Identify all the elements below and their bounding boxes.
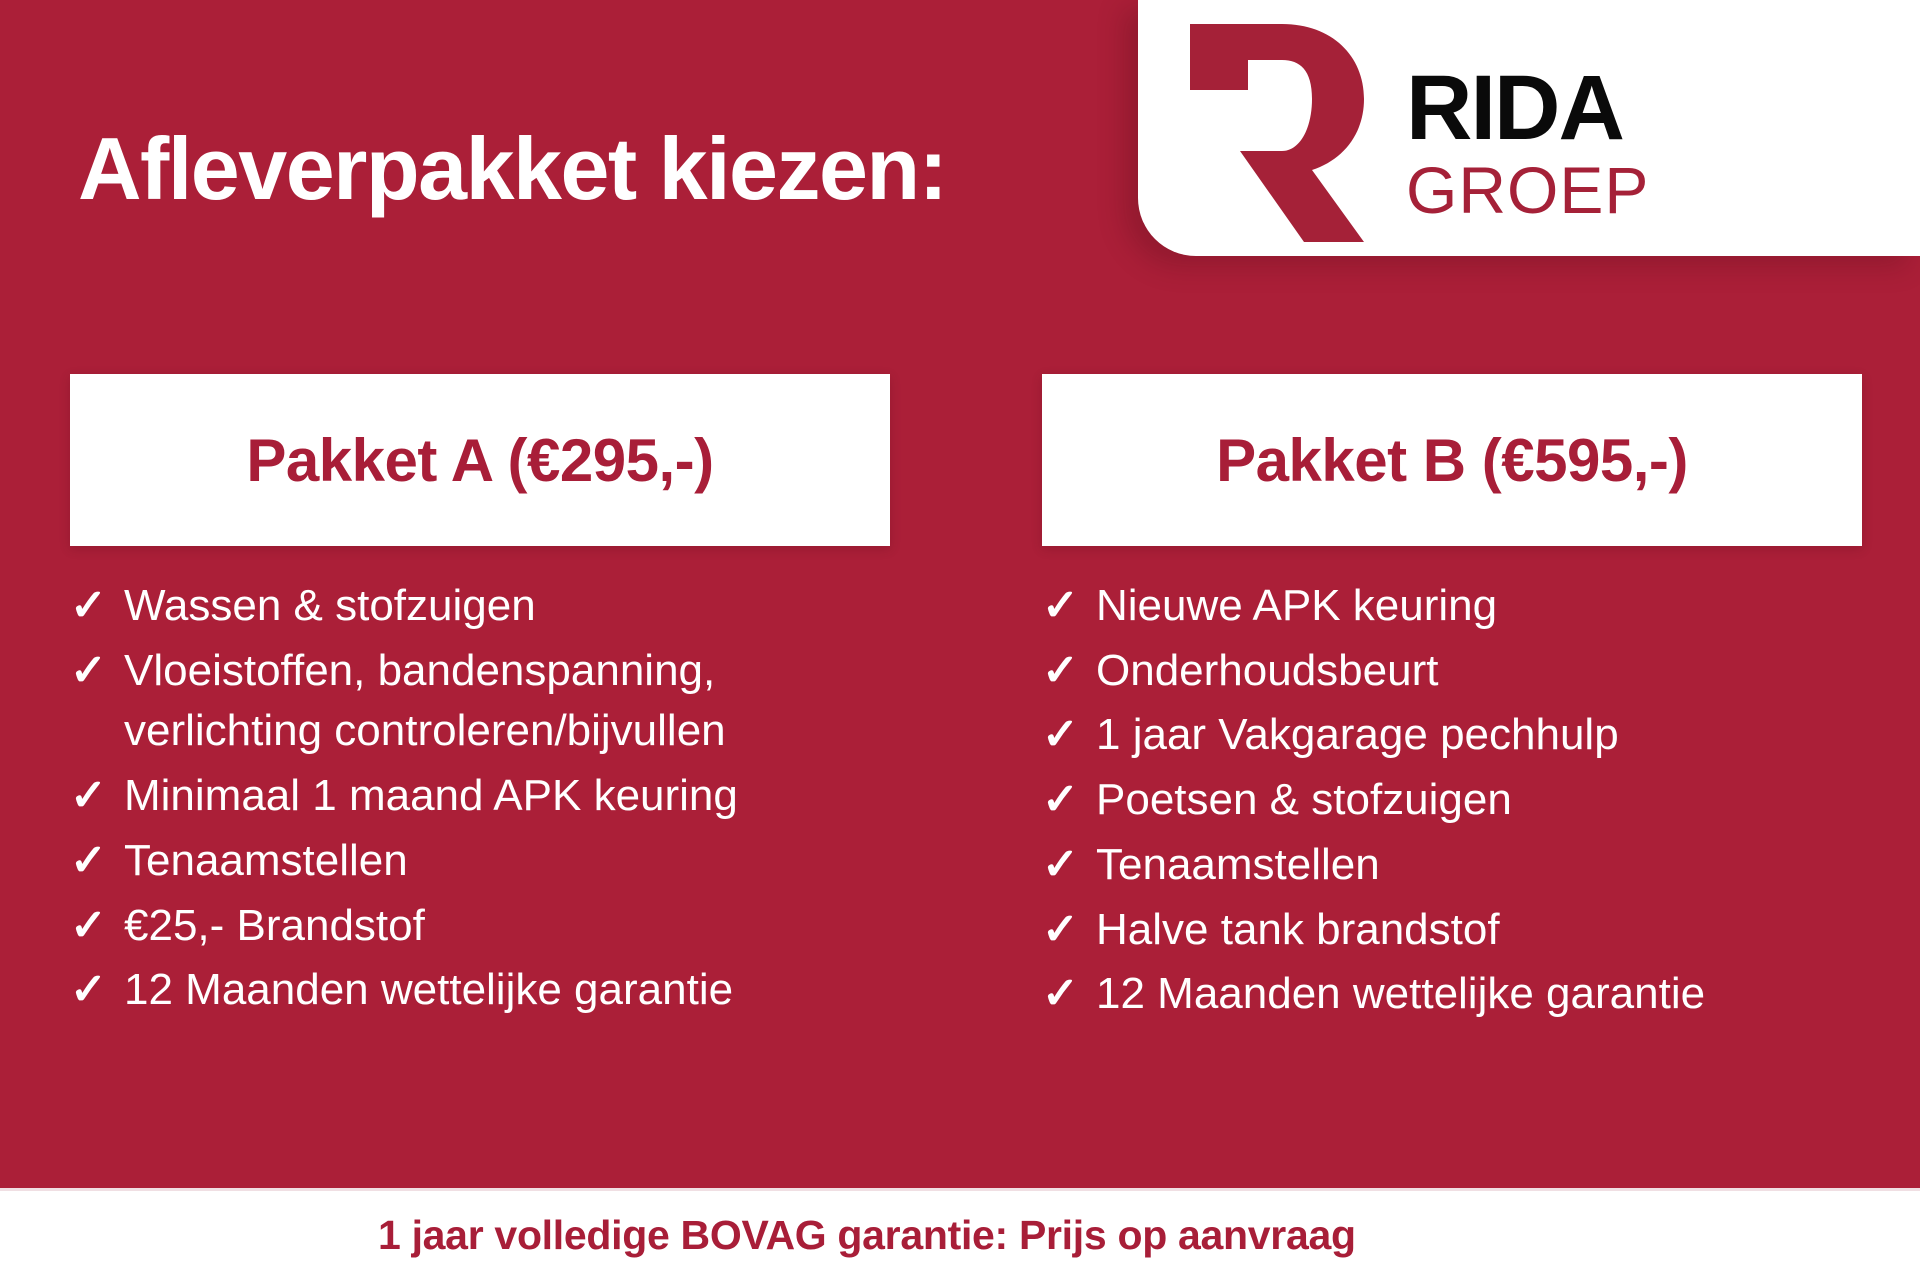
list-item: ✓ Poetsen & stofzuigen (1042, 770, 1862, 831)
list-item: ✓ 12 Maanden wettelijke garantie (70, 960, 890, 1021)
list-item: ✓ €25,- Brandstof (70, 896, 890, 957)
list-item: ✓ Onderhoudsbeurt (1042, 641, 1862, 702)
feature-label: Poetsen & stofzuigen (1096, 770, 1862, 831)
package-b-feature-list: ✓ Nieuwe APK keuring ✓ Onderhoudsbeurt ✓… (1042, 576, 1862, 1025)
package-a-header: Pakket A (€295,-) (70, 374, 890, 546)
check-mark-icon: ✓ (70, 641, 124, 702)
logo-name: RIDA (1406, 66, 1649, 151)
rida-r-monogram-icon (1186, 20, 1364, 242)
feature-label: Vloeistoffen, bandenspanning, verlichtin… (124, 641, 890, 762)
package-a-title: Pakket A (€295,-) (246, 426, 713, 495)
feature-label: 12 Maanden wettelijke garantie (124, 960, 890, 1021)
list-item: ✓ Tenaamstellen (1042, 835, 1862, 896)
feature-label: Halve tank brandstof (1096, 900, 1862, 961)
package-b-header: Pakket B (€595,-) (1042, 374, 1862, 546)
check-mark-icon: ✓ (70, 831, 124, 892)
footer-note: 1 jaar volledige BOVAG garantie: Prijs o… (378, 1212, 1356, 1259)
check-mark-icon: ✓ (70, 896, 124, 957)
logo-lockup: RIDA GROEP (1186, 18, 1876, 238)
logo-subtitle: GROEP (1406, 157, 1649, 223)
package-b-title: Pakket B (€595,-) (1216, 426, 1688, 495)
list-item: ✓ 12 Maanden wettelijke garantie (1042, 964, 1862, 1025)
list-item: ✓ Tenaamstellen (70, 831, 890, 892)
feature-label: 12 Maanden wettelijke garantie (1096, 964, 1862, 1025)
logo-wordmark: RIDA GROEP (1406, 66, 1649, 223)
package-card-a[interactable]: Pakket A (€295,-) ✓ Wassen & stofzuigen … (70, 374, 890, 1025)
list-item: ✓ Nieuwe APK keuring (1042, 576, 1862, 637)
check-mark-icon: ✓ (1042, 576, 1096, 637)
feature-label: Tenaamstellen (1096, 835, 1862, 896)
feature-label: Wassen & stofzuigen (124, 576, 890, 637)
check-mark-icon: ✓ (1042, 900, 1096, 961)
list-item: ✓ Vloeistoffen, bandenspanning, verlicht… (70, 641, 890, 762)
list-item: ✓ Wassen & stofzuigen (70, 576, 890, 637)
feature-label: Nieuwe APK keuring (1096, 576, 1862, 637)
feature-label: Minimaal 1 maand APK keuring (124, 766, 890, 827)
check-mark-icon: ✓ (70, 960, 124, 1021)
check-mark-icon: ✓ (1042, 964, 1096, 1025)
page-title: Afleverpakket kiezen: (78, 125, 946, 213)
list-item: ✓ Minimaal 1 maand APK keuring (70, 766, 890, 827)
check-mark-icon: ✓ (1042, 641, 1096, 702)
feature-label: €25,- Brandstof (124, 896, 890, 957)
logo-plate: RIDA GROEP (1138, 0, 1920, 256)
afleverpakket-poster: Afleverpakket kiezen: RIDA GROEP Pakket … (0, 0, 1920, 1279)
check-mark-icon: ✓ (70, 766, 124, 827)
list-item: ✓ 1 jaar Vakgarage pechhulp (1042, 705, 1862, 766)
check-mark-icon: ✓ (1042, 835, 1096, 896)
package-a-feature-list: ✓ Wassen & stofzuigen ✓ Vloeistoffen, ba… (70, 576, 890, 1021)
feature-label: Onderhoudsbeurt (1096, 641, 1862, 702)
package-card-b[interactable]: Pakket B (€595,-) ✓ Nieuwe APK keuring ✓… (1042, 374, 1862, 1029)
feature-label: 1 jaar Vakgarage pechhulp (1096, 705, 1862, 766)
check-mark-icon: ✓ (70, 576, 124, 637)
feature-label: Tenaamstellen (124, 831, 890, 892)
list-item: ✓ Halve tank brandstof (1042, 900, 1862, 961)
check-mark-icon: ✓ (1042, 705, 1096, 766)
footer-bar: 1 jaar volledige BOVAG garantie: Prijs o… (0, 1188, 1920, 1279)
check-mark-icon: ✓ (1042, 770, 1096, 831)
